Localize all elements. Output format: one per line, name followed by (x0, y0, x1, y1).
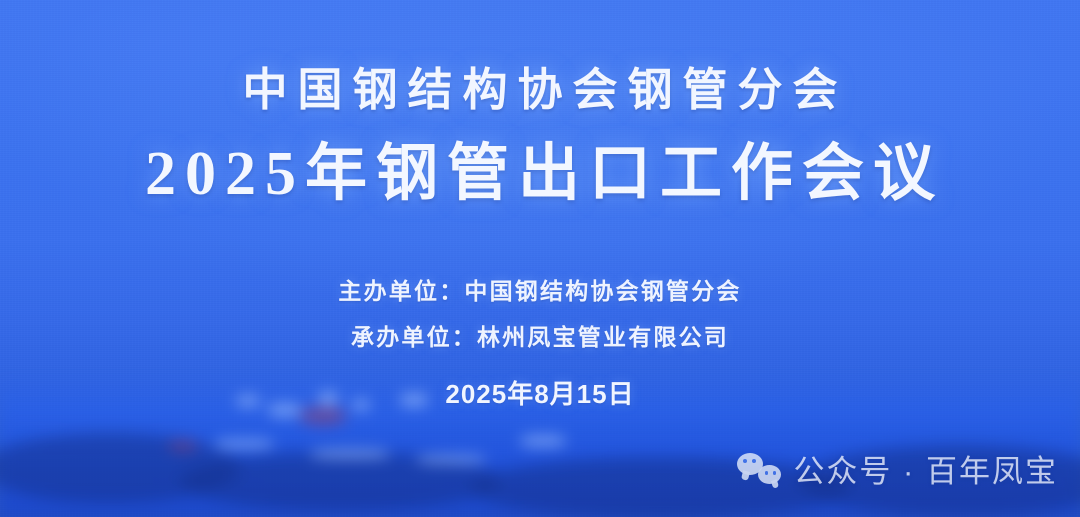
event-date: 2025年8月15日 (0, 374, 1080, 411)
wechat-eye-dot (765, 471, 769, 475)
wechat-eye-dot (773, 471, 777, 475)
organizer-line: 主办单位：中国钢结构协会钢管分会 (0, 272, 1080, 306)
wechat-bubble-small (758, 465, 781, 484)
banner-title-line-2: 2025年钢管出口工作会议 (0, 140, 1080, 209)
watermark: 公众号 · 百年凤宝 (737, 446, 1058, 491)
watermark-text: 公众号 · 百年凤宝 (793, 446, 1058, 491)
banner-title-line-1: 中国钢结构协会钢管分会 (0, 66, 1080, 113)
banner-text-block: 中国钢结构协会钢管分会 2025年钢管出口工作会议 主办单位：中国钢结构协会钢管… (0, 0, 1080, 517)
conference-banner-image: 中国钢结构协会钢管分会 2025年钢管出口工作会议 主办单位：中国钢结构协会钢管… (0, 0, 1080, 517)
co-organizer-line: 承办单位：林州凤宝管业有限公司 (0, 318, 1080, 352)
wechat-icon (737, 452, 781, 486)
